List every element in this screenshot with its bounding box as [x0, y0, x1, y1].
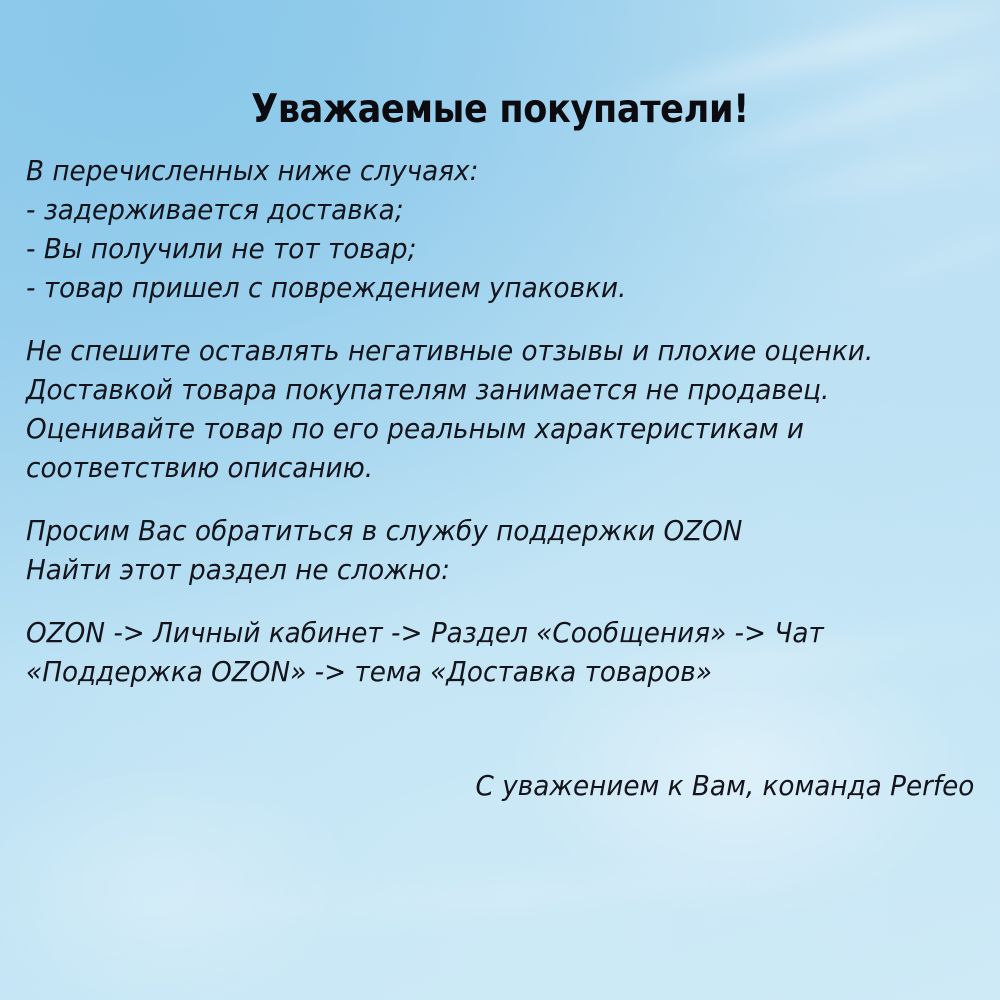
notice-body: В перечисленных ниже случаях: - задержив… [26, 152, 974, 692]
notice-line: OZON -> Личный кабинет -> Раздел «Сообще… [26, 614, 931, 653]
poster-content: Уважаемые покупатели! В перечисленных ни… [0, 0, 1000, 1000]
paragraph-navigation-path: OZON -> Личный кабинет -> Раздел «Сообще… [26, 614, 974, 692]
paragraph-support: Просим Вас обратиться в службу поддержки… [26, 512, 974, 590]
notice-line: Не спешите оставлять негативные отзывы и… [26, 332, 931, 371]
page-title: Уважаемые покупатели! [50, 88, 950, 132]
notice-line: «Поддержка OZON» -> тема «Доставка товар… [26, 653, 931, 692]
notice-line: - Вы получили не тот товар; [26, 230, 931, 269]
notice-line: Просим Вас обратиться в службу поддержки… [26, 512, 931, 551]
paragraph-advice: Не спешите оставлять негативные отзывы и… [26, 332, 974, 488]
signature-line: С уважением к Вам, команда Perfeo [475, 768, 974, 804]
notice-line: В перечисленных ниже случаях: [26, 152, 931, 191]
notice-line: соответствию описанию. [26, 449, 931, 488]
notice-poster: Уважаемые покупатели! В перечисленных ни… [0, 0, 1000, 1000]
notice-line: Доставкой товара покупателям занимается … [26, 371, 931, 410]
notice-line: - задерживается доставка; [26, 191, 931, 230]
notice-line: Оценивайте товар по его реальным характе… [26, 410, 931, 449]
paragraph-cases: В перечисленных ниже случаях: - задержив… [26, 152, 974, 308]
notice-line: Найти этот раздел не сложно: [26, 551, 931, 590]
notice-line: - товар пришел с повреждением упаковки. [26, 269, 931, 308]
